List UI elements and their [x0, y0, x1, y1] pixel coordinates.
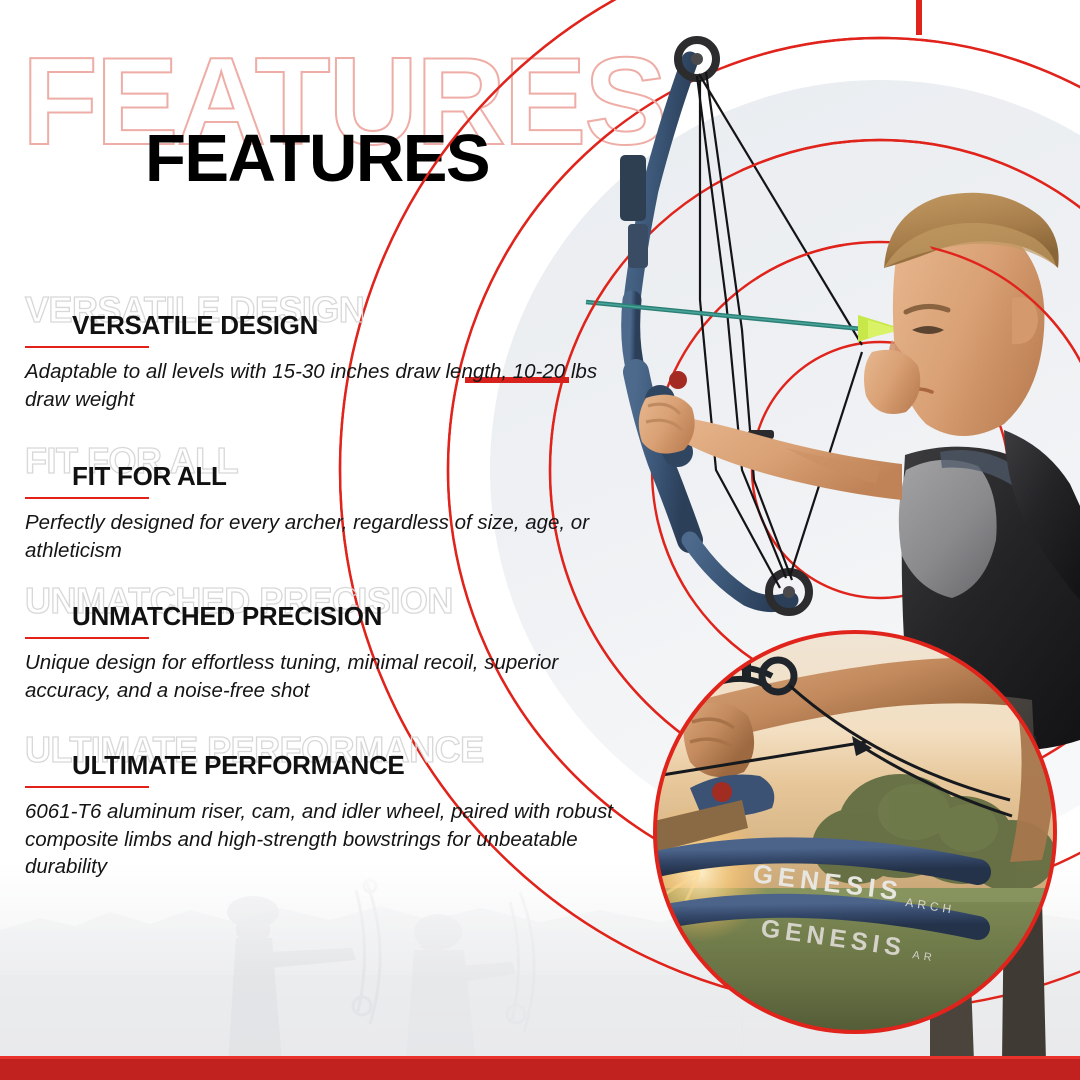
bottom-accent-bar — [0, 1059, 1080, 1080]
infographic-canvas: FEATURES FEATURES — [0, 0, 1080, 1080]
inset-photo-circle: GENESIS ARCH GENESIS AR — [0, 0, 1080, 1080]
